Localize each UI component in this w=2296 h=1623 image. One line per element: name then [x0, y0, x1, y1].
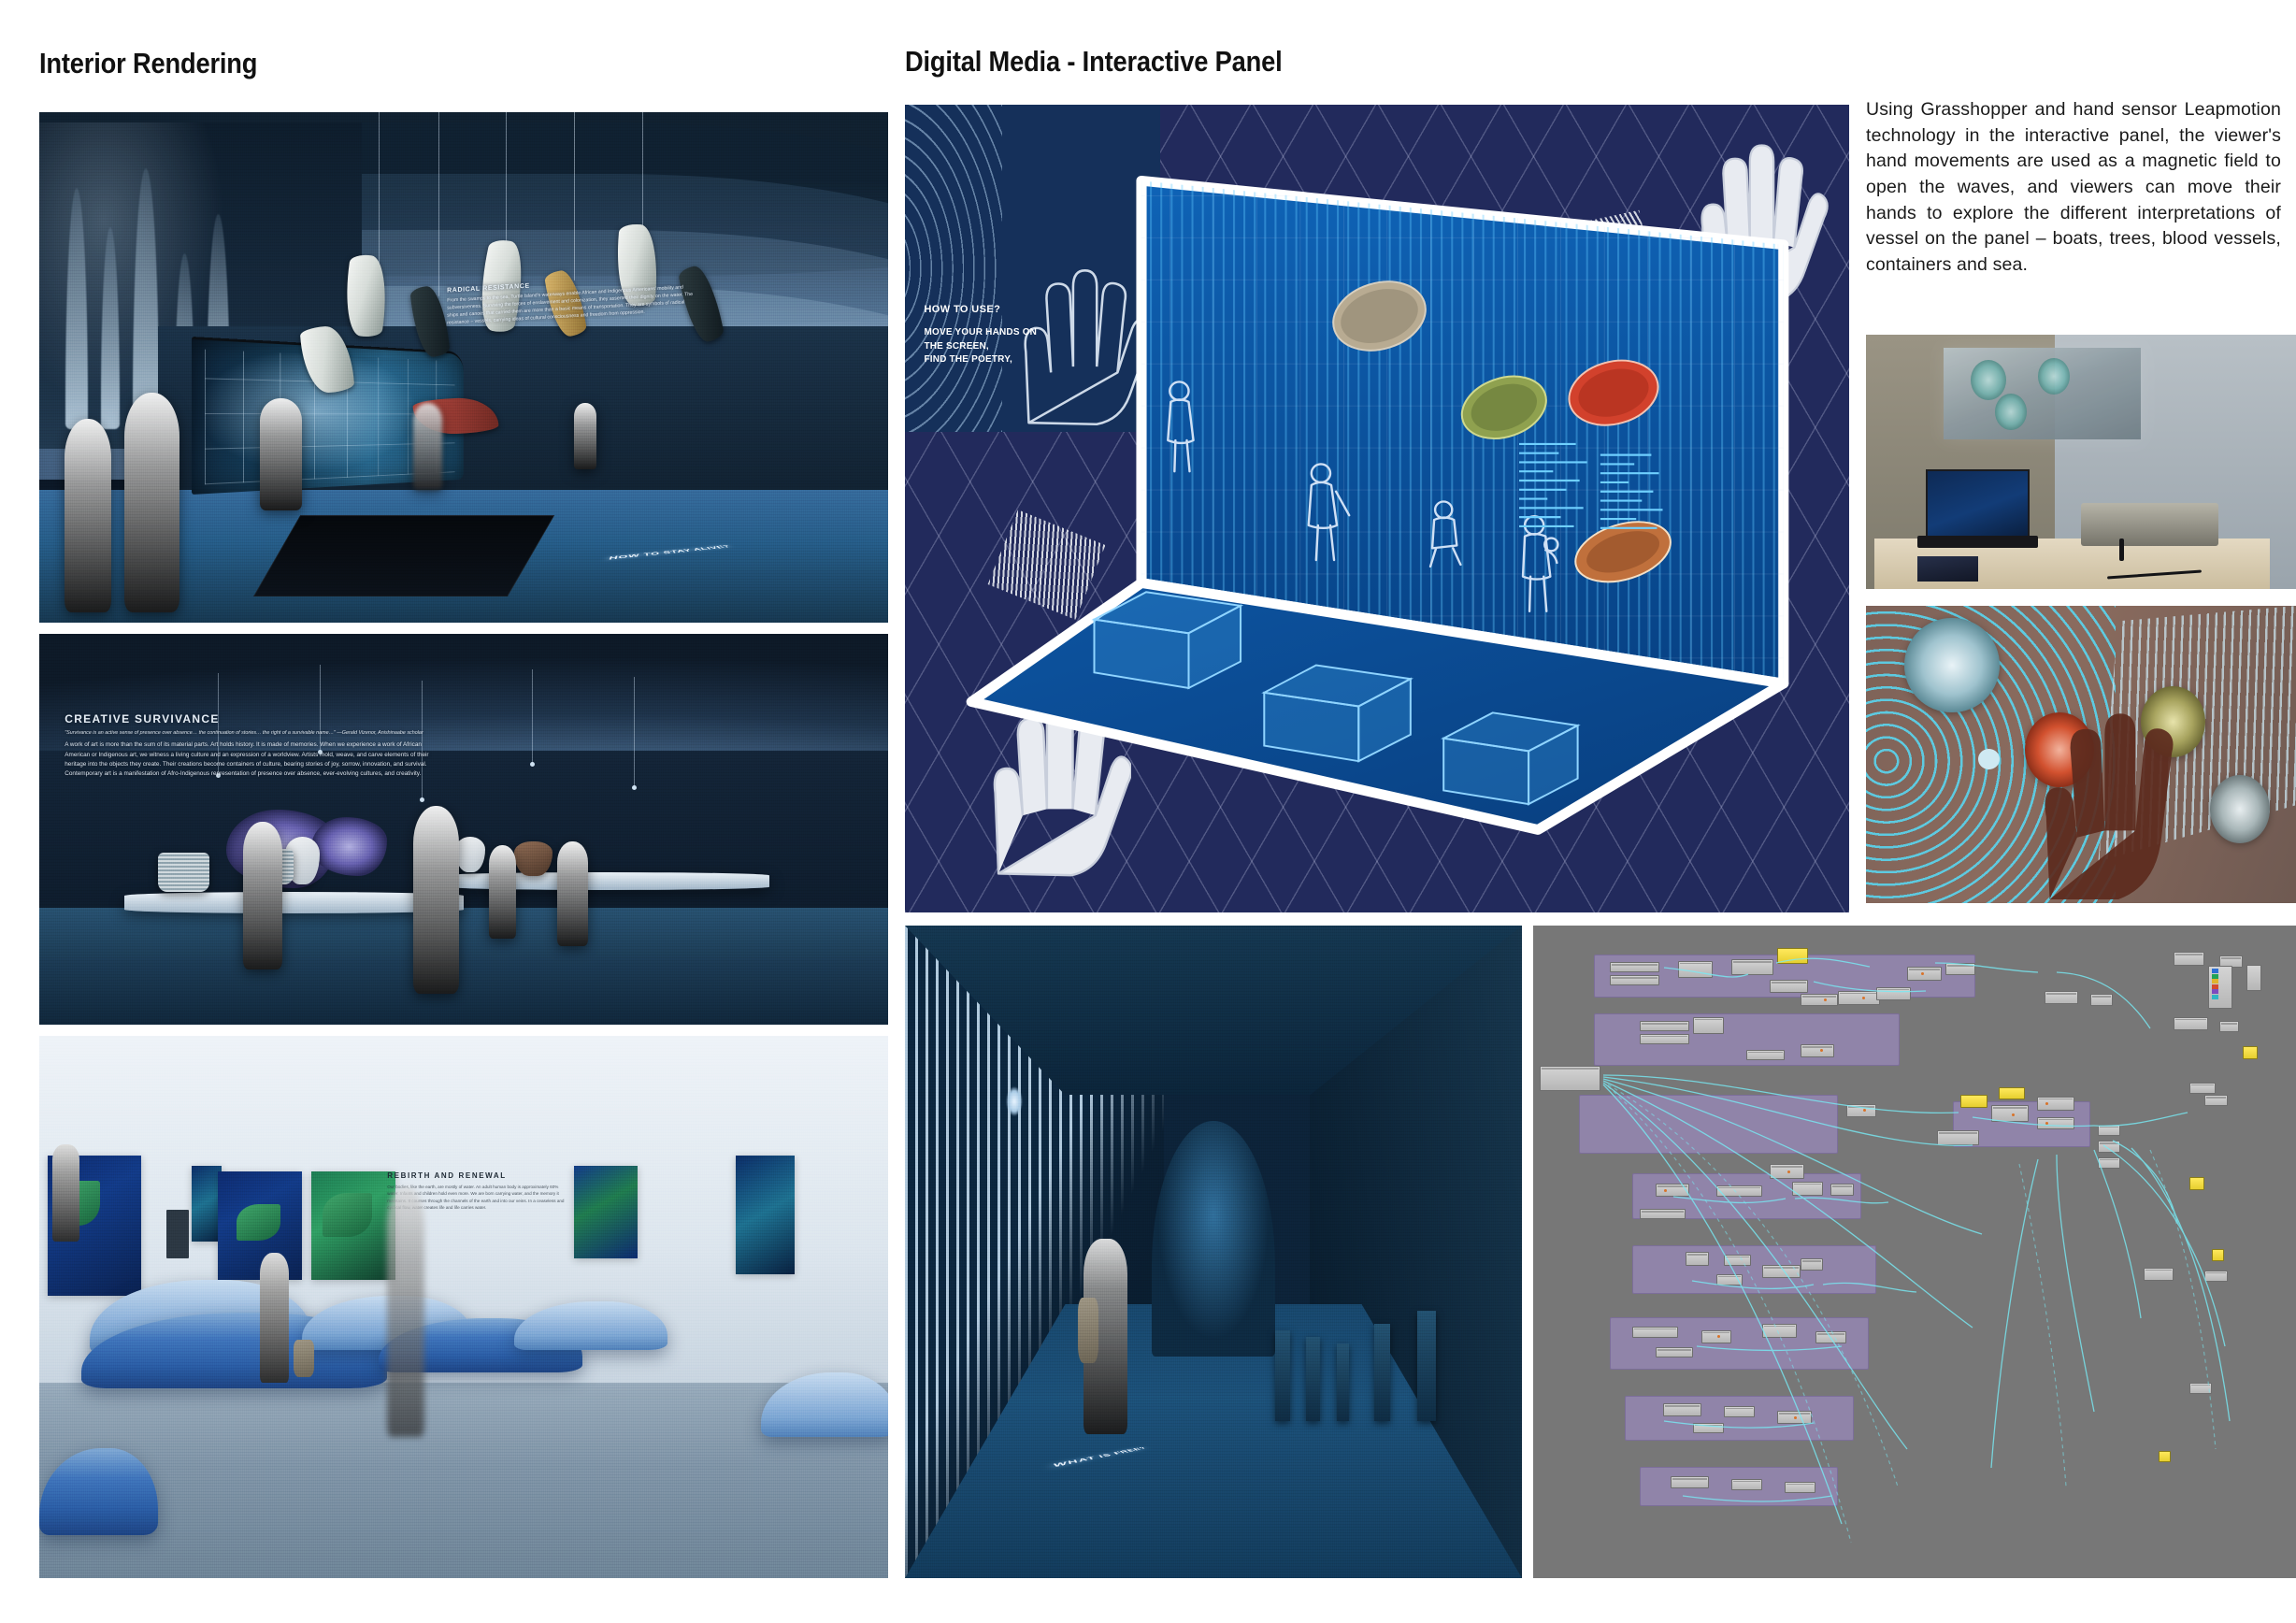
render-creative-survivance: CREATIVE SURVIVANCE "Survivance is an ac…	[39, 634, 888, 1025]
hanging-wire	[574, 112, 575, 280]
wall-niche	[166, 1210, 189, 1258]
visitor-figure	[65, 419, 111, 612]
hall-reflective-plinth	[253, 515, 555, 596]
hanging-wire	[438, 112, 439, 296]
project-description-paragraph: Using Grasshopper and hand sensor Leapmo…	[1866, 97, 2281, 279]
leap-motion-sensor	[2119, 539, 2124, 561]
artwork-panel	[311, 1171, 396, 1280]
leaf-motif	[323, 1193, 372, 1236]
grasshopper-definition-canvas	[1533, 926, 2296, 1578]
corridor-light-aperture	[1004, 1083, 1025, 1120]
projector-device	[2081, 503, 2218, 546]
exhibit-plinth	[1275, 1330, 1290, 1422]
seated-visitor	[260, 1253, 289, 1383]
survivance-quote: "Survivance is an active sense of presen…	[65, 729, 438, 738]
presentation-board: Interior Rendering Digital Media - Inter…	[0, 0, 2296, 1623]
exhibit-plinth	[1306, 1337, 1320, 1422]
artifact-basket	[158, 853, 208, 892]
laptop-base	[1917, 536, 2038, 549]
gh-wires	[1533, 926, 2296, 1578]
exhibit-plinth	[1417, 1311, 1436, 1422]
laptop-screen	[1926, 469, 2029, 538]
leaf-motif	[237, 1204, 280, 1241]
corridor-far-vault	[1152, 1121, 1275, 1356]
isometric-room-geometry	[953, 153, 1821, 848]
wall-text-creative-survivance: CREATIVE SURVIVANCE "Survivance is an ac…	[65, 712, 438, 780]
render-rebirth-renewal: REBIRTH AND RENEWAL Our bodies, like the…	[39, 1036, 888, 1578]
exhibit-plinth	[1374, 1324, 1390, 1422]
projection-disc	[2038, 358, 2070, 395]
artwork-panel	[736, 1156, 796, 1275]
backpack	[1078, 1298, 1098, 1363]
ceiling-shard	[101, 227, 121, 430]
visitor-figure	[52, 1144, 79, 1242]
photo-hand-interaction	[1866, 606, 2296, 903]
vessel-disc-skull	[1904, 618, 1999, 713]
ceiling-shard	[65, 188, 88, 430]
render-interior-hall: RADICAL RESISTANCE From the swamps to th…	[39, 112, 888, 623]
artifact-vase	[455, 837, 485, 872]
ceiling-shard	[133, 168, 159, 430]
survivance-floor	[39, 908, 888, 1025]
backpack	[294, 1340, 314, 1378]
visitor-figure	[243, 822, 282, 970]
walking-visitor	[387, 1187, 424, 1437]
survivance-heading: CREATIVE SURVIVANCE	[65, 712, 438, 725]
visitor-figure	[413, 806, 459, 994]
isometric-interactive-panel-diagram: HOW TO USE? MOVE YOUR HANDS ON THE SCREE…	[905, 105, 1849, 912]
visitor-figure	[124, 393, 179, 612]
artwork-panel	[574, 1166, 638, 1258]
rebirth-heading: REBIRTH AND RENEWAL	[387, 1171, 566, 1180]
visitor-figure	[260, 398, 302, 510]
hanging-wire	[379, 112, 380, 266]
projection-disc	[1995, 394, 2027, 430]
section-title-interior-rendering: Interior Rendering	[39, 47, 257, 80]
visitor-figure	[413, 403, 443, 490]
visitor-figure	[574, 403, 596, 469]
pendant-light	[634, 677, 635, 786]
projection-disc	[1971, 360, 2006, 400]
hanging-wire	[506, 112, 507, 250]
cursor-dot	[1978, 749, 2000, 769]
section-title-digital-media: Digital Media - Interactive Panel	[905, 45, 1283, 79]
photo-prototype-setup	[1866, 335, 2296, 589]
hanging-wire	[642, 112, 643, 235]
survivance-body: A work of art is more than the sum of it…	[65, 740, 438, 780]
rebirth-floor	[39, 1383, 888, 1578]
visitor-figure	[489, 845, 516, 939]
visitor-figure	[557, 841, 588, 947]
hand-silhouette	[2012, 671, 2184, 903]
pendant-light	[532, 669, 533, 763]
exhibit-plinth	[1337, 1343, 1349, 1422]
projected-interface	[1944, 348, 2142, 439]
artwork-panel	[218, 1171, 303, 1280]
stacked-books	[1917, 556, 1977, 582]
render-corridor: WHAT IS FREE?	[905, 926, 1522, 1578]
